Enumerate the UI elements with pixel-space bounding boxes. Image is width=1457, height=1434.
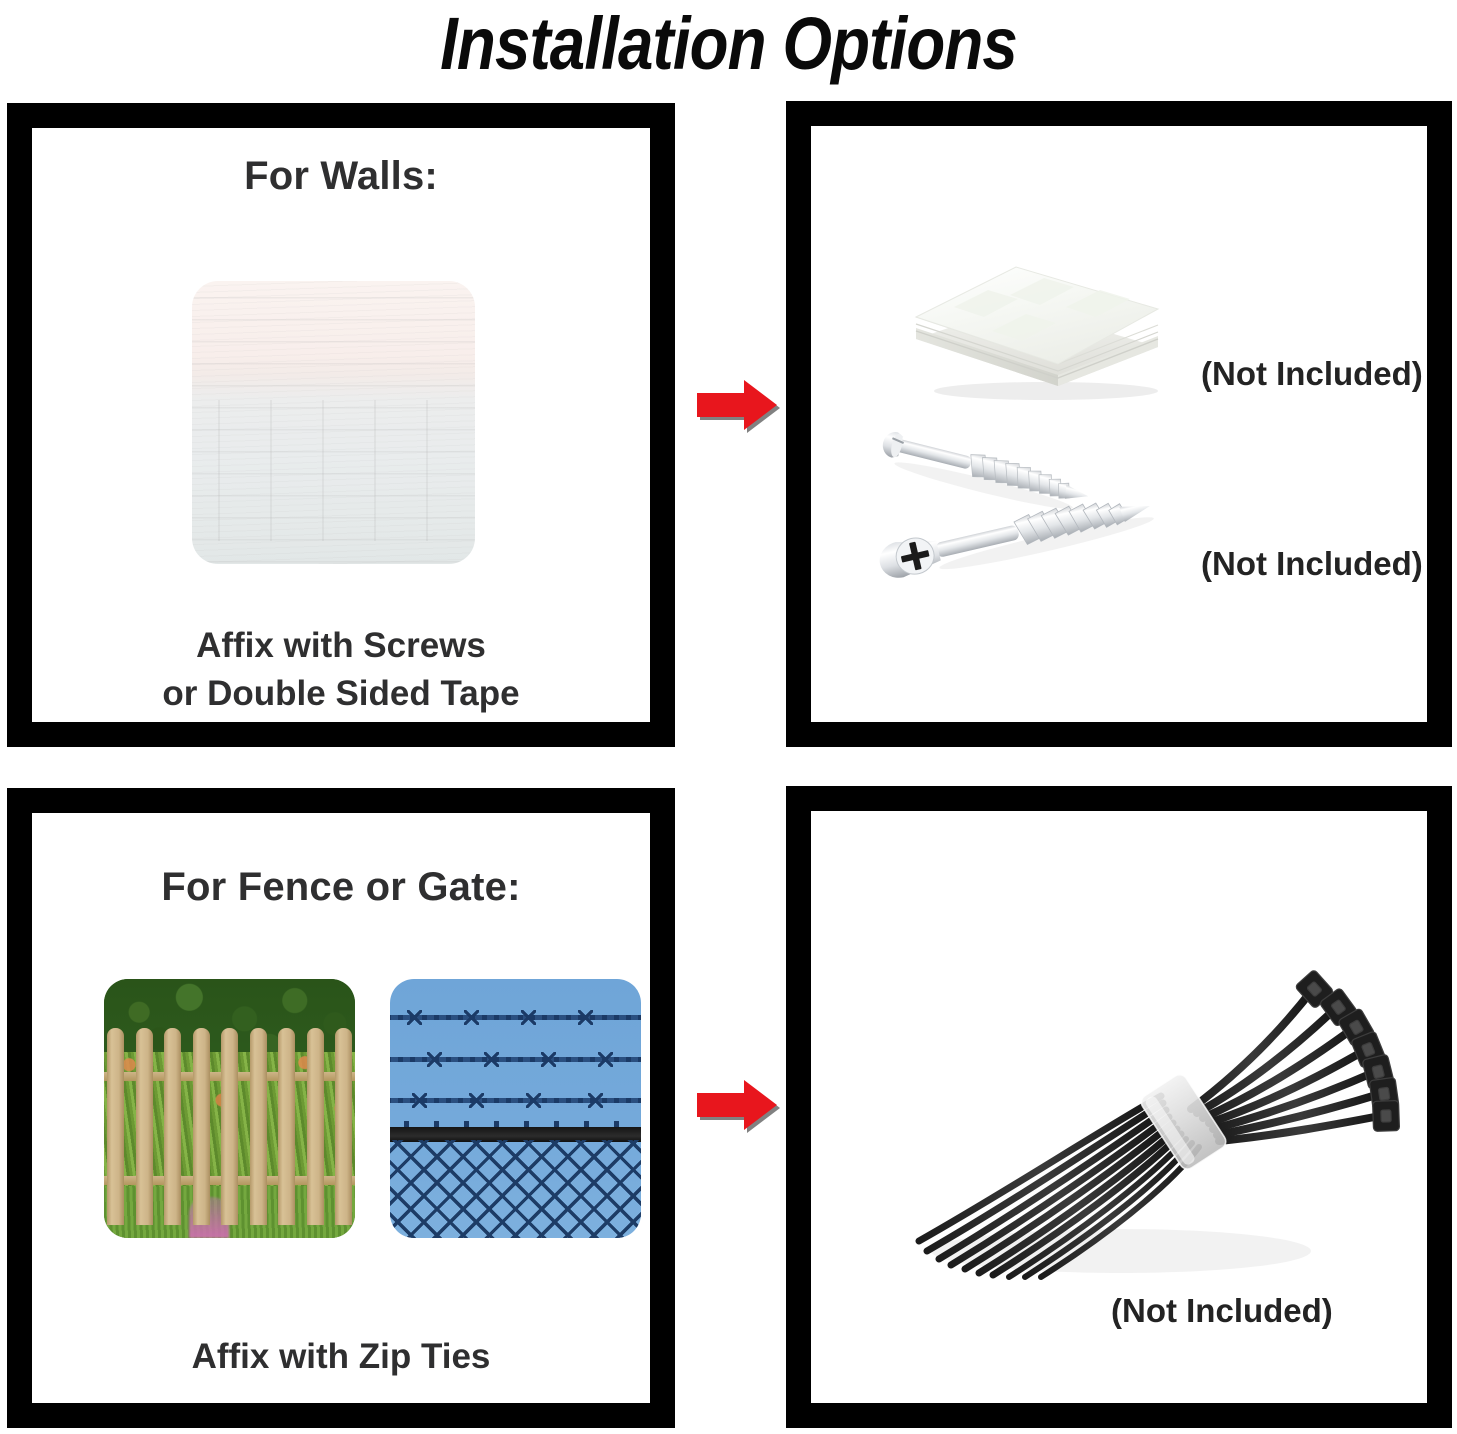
caption-for-walls: Affix with Screws or Double Sided Tape [32, 622, 650, 718]
picket [193, 1028, 210, 1225]
barbed-wire-strand-3 [390, 1098, 641, 1103]
brick-wall-photo [192, 281, 475, 564]
barb [598, 1052, 613, 1067]
panel-for-fence-or-gate: For Fence or Gate: [7, 788, 675, 1428]
picket-fence-photo [104, 979, 355, 1238]
tape-not-included-label: (Not Included) [1201, 354, 1423, 394]
panel-for-walls: For Walls: Affix with Screws or Double S… [7, 103, 675, 747]
chain-link-fence-photo [390, 979, 641, 1238]
caption-line-1: Affix with Screws [32, 622, 650, 670]
picket [136, 1028, 153, 1225]
chain-link-mesh [390, 1140, 641, 1238]
picket [221, 1028, 238, 1225]
caption-line-2: or Double Sided Tape [32, 670, 650, 718]
picket [250, 1028, 267, 1225]
panel-wall-hardware: (Not Included) [786, 101, 1452, 747]
red-right-arrow-icon-top [692, 377, 780, 433]
barb [588, 1093, 603, 1108]
barb [541, 1052, 556, 1067]
barb [469, 1093, 484, 1108]
panel-zip-ties-inner: (Not Included) [811, 811, 1427, 1403]
barb [407, 1010, 422, 1025]
caption-for-fence: Affix with Zip Ties [32, 1333, 650, 1381]
barb [484, 1052, 499, 1067]
barb [464, 1010, 479, 1025]
zip-ties-photo [861, 911, 1401, 1311]
zip-ties-not-included-label: (Not Included) [1111, 1291, 1333, 1331]
barbed-wire-strand-2 [390, 1057, 641, 1062]
panel-for-fence-inner: For Fence or Gate: [32, 813, 650, 1403]
picket [335, 1028, 352, 1225]
heading-for-fence-or-gate: For Fence or Gate: [32, 863, 650, 911]
screws-not-included-label: (Not Included) [1201, 544, 1423, 584]
double-sided-tape-photo [906, 251, 1172, 403]
fence-pickets [104, 1028, 355, 1225]
picket [107, 1028, 124, 1225]
picket [307, 1028, 324, 1225]
screws-photo [871, 416, 1231, 606]
barb [578, 1010, 593, 1025]
panel-wall-hardware-inner: (Not Included) [811, 126, 1427, 722]
picket [164, 1028, 181, 1225]
barb [521, 1010, 536, 1025]
panel-zip-ties: (Not Included) [786, 786, 1452, 1428]
panel-for-walls-inner: For Walls: Affix with Screws or Double S… [32, 128, 650, 722]
barb [526, 1093, 541, 1108]
brick-paint-streaks [192, 281, 475, 564]
barb [427, 1052, 442, 1067]
picket [278, 1028, 295, 1225]
barbed-wire-strand-1 [390, 1015, 641, 1020]
red-right-arrow-icon-bottom [692, 1077, 780, 1133]
page-title: Installation Options [102, 0, 1355, 90]
barb [412, 1093, 427, 1108]
heading-for-walls: For Walls: [32, 152, 650, 200]
